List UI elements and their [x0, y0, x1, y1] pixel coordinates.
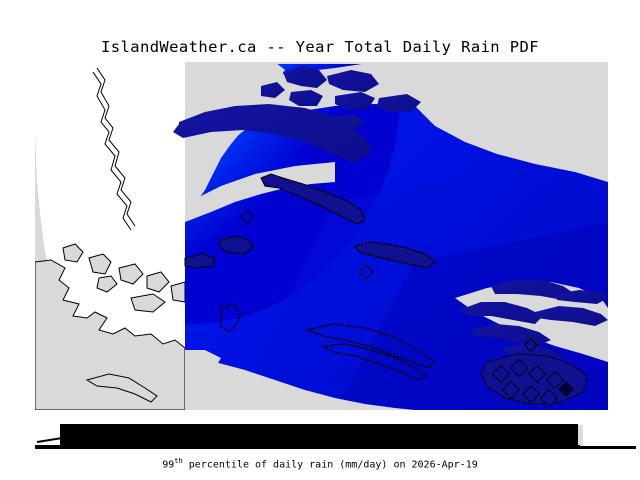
map-canvas: [35, 62, 608, 410]
caption-rest: percentile of daily rain (mm/day) on 202…: [183, 459, 478, 470]
caption-percentile-number: 99: [162, 459, 174, 470]
colorbar-right-edge: [578, 425, 583, 446]
map-panel: [35, 62, 608, 410]
caption-percentile-suffix: th: [174, 457, 182, 465]
page-root: IslandWeather.ca -- Year Total Daily Rai…: [0, 0, 640, 480]
page-title: IslandWeather.ca -- Year Total Daily Rai…: [0, 38, 640, 56]
colorbar-caption: 99th percentile of daily rain (mm/day) o…: [0, 457, 640, 470]
panel-top-edge: [185, 62, 608, 64]
colorbar-axis-line: [35, 445, 580, 449]
colorbar-fill: [60, 424, 578, 446]
colorbar-axis-extension: [580, 446, 636, 449]
colorbar: [35, 424, 580, 448]
